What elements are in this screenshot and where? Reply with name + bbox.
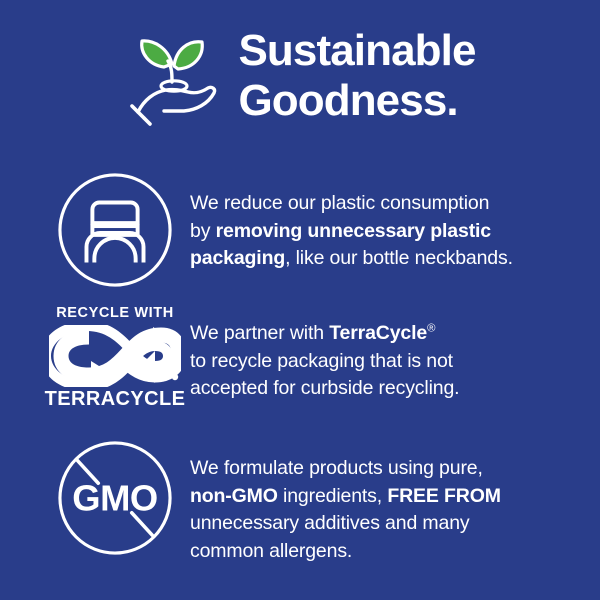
hand-holding-sprout-icon <box>124 26 228 130</box>
benefit-icon-slot: GMO <box>40 440 190 556</box>
no-gmo-label: GMO <box>72 478 157 519</box>
benefit-icon-slot: RECYCLE WITH <box>40 305 190 410</box>
benefit-row-plastic: We reduce our plastic consumptionby remo… <box>40 172 580 288</box>
terracycle-bottom-label: TERRACYCLE <box>45 388 186 410</box>
terracycle-top-label: RECYCLE WITH <box>56 305 174 321</box>
bottle-in-circle-icon <box>57 172 173 288</box>
benefit-text-gmo: We formulate products using pure,non-GMO… <box>190 440 501 565</box>
benefit-text-terracycle: We partner with TerraCycle®to recycle pa… <box>190 305 459 403</box>
benefit-row-gmo: GMO We formulate products using pure,non… <box>40 440 580 565</box>
terracycle-logo: RECYCLE WITH <box>48 305 183 410</box>
page-title: Sustainable Goodness. <box>238 26 475 130</box>
benefit-icon-slot <box>40 172 190 288</box>
infinity-loop-arrows-icon <box>49 325 181 387</box>
no-gmo-icon: GMO <box>57 440 173 556</box>
sustainable-goodness-panel: Sustainable Goodness. We reduce our plas… <box>0 0 600 600</box>
header: Sustainable Goodness. <box>0 26 600 130</box>
benefit-row-terracycle: RECYCLE WITH <box>40 305 580 410</box>
benefit-text-plastic: We reduce our plastic consumptionby remo… <box>190 172 513 273</box>
